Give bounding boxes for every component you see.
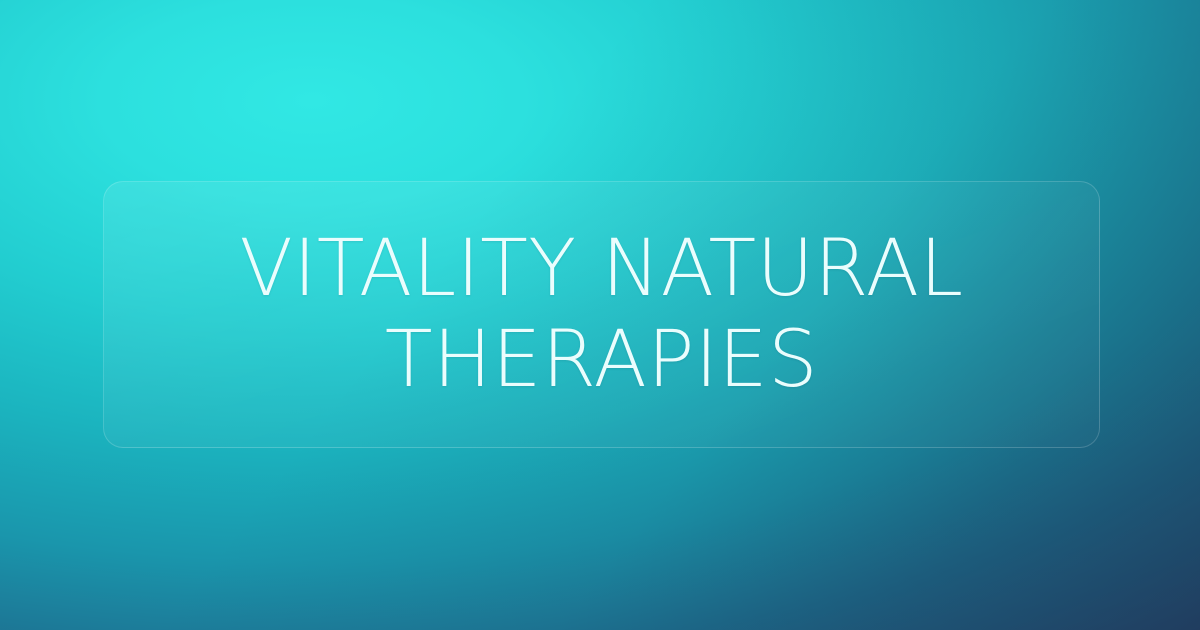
page-title: VITALITY NATURAL THERAPIES [104,224,1099,406]
glass-panel: VITALITY NATURAL THERAPIES [103,181,1100,448]
share-card-canvas: VITALITY NATURAL THERAPIES [0,0,1200,630]
